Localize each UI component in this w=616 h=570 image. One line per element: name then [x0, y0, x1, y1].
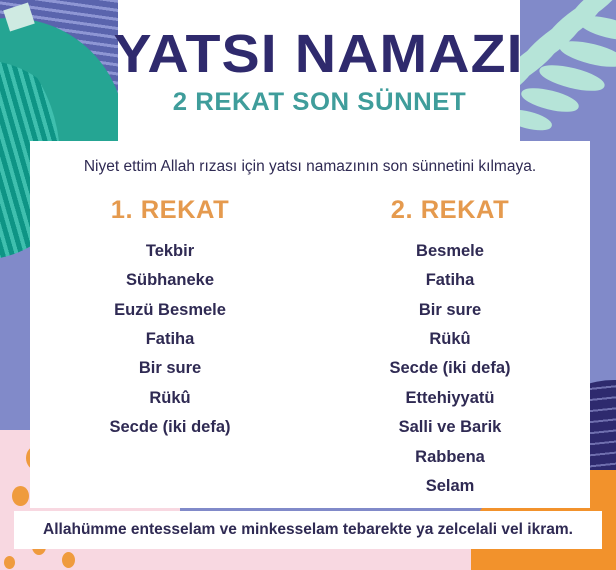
orange-dot-decoration [12, 486, 29, 506]
list-item: Euzü Besmele [30, 296, 310, 325]
list-item: Besmele [310, 237, 590, 266]
orange-dot-decoration [62, 552, 75, 568]
list-item: Salli ve Barik [310, 413, 590, 442]
footer-text: Allahümme entesselam ve minkesselam teba… [43, 521, 573, 539]
list-item: Bir sure [310, 296, 590, 325]
list-item: Fatiha [30, 325, 310, 354]
list-item: Secde (iki defa) [30, 413, 310, 442]
list-item: Ettehiyyatü [310, 384, 590, 413]
poster-canvas: YATSI NAMAZI 2 REKAT SON SÜNNET Niyet et… [0, 0, 616, 570]
page-subtitle: 2 REKAT SON SÜNNET [172, 90, 466, 115]
rekat-column-1: 1. REKAT Tekbir Sübhaneke Euzü Besmele F… [30, 196, 310, 501]
title-card: YATSI NAMAZI 2 REKAT SON SÜNNET [118, 0, 520, 141]
list-item: Fatiha [310, 266, 590, 295]
list-item: Bir sure [30, 354, 310, 383]
list-item: Rükû [30, 384, 310, 413]
footer-card: Allahümme entesselam ve minkesselam teba… [14, 511, 602, 549]
orange-dot-decoration [4, 556, 15, 569]
intention-text: Niyet ettim Allah rızası için yatsı nama… [30, 158, 590, 176]
column-heading: 2. REKAT [307, 196, 593, 225]
list-item: Rabbena [310, 443, 590, 472]
list-item: Sübhaneke [30, 266, 310, 295]
column-heading: 1. REKAT [27, 196, 313, 225]
rekat-column-2: 2. REKAT Besmele Fatiha Bir sure Rükû Se… [310, 196, 590, 501]
page-title: YATSI NAMAZI [114, 27, 524, 81]
list-item: Secde (iki defa) [310, 354, 590, 383]
main-content-card: Niyet ettim Allah rızası için yatsı nama… [30, 141, 590, 508]
rekat-columns: 1. REKAT Tekbir Sübhaneke Euzü Besmele F… [30, 196, 590, 501]
list-item: Selam [310, 472, 590, 501]
list-item: Rükû [310, 325, 590, 354]
list-item: Tekbir [30, 237, 310, 266]
